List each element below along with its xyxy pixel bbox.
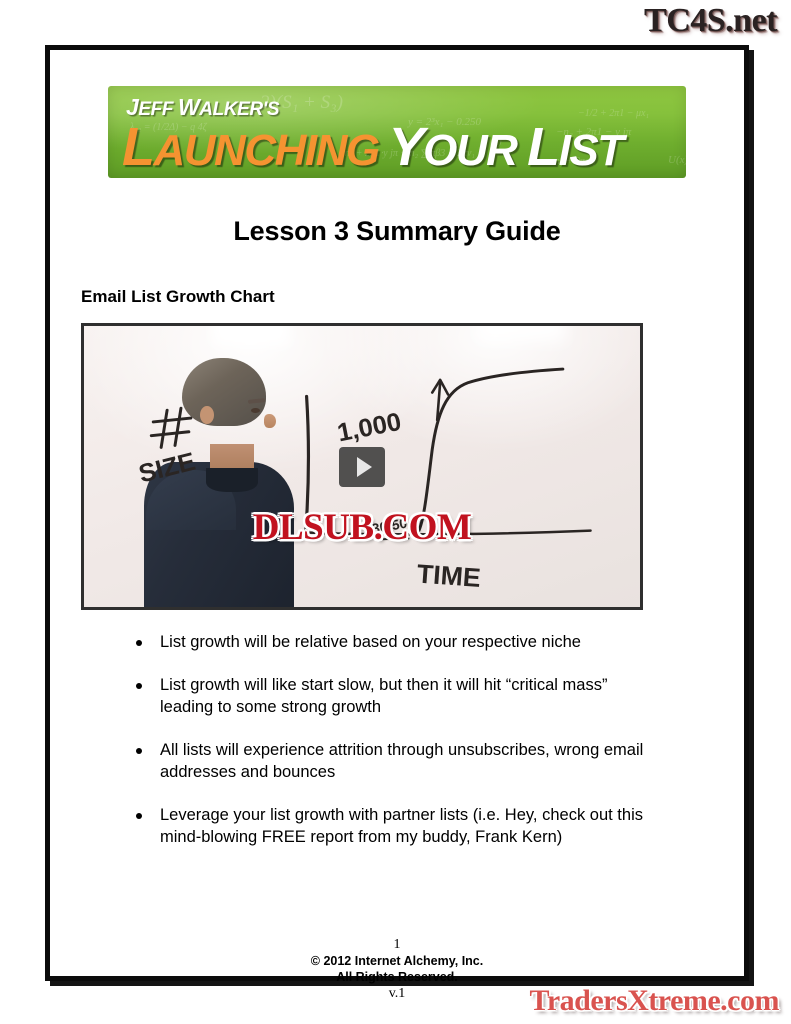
banner-title-launching: LAUNCHING xyxy=(122,126,379,175)
video-watermark: DLSUB.COM xyxy=(253,506,472,549)
course-banner: 2)(S₁ + S₃) y = 2³x₁ − 0.250 −1/2 + 2π1 … xyxy=(108,86,686,178)
banner-your-cap: Y xyxy=(389,117,424,177)
banner-launching-rest: AUNCHING xyxy=(154,126,379,175)
whiteboard-y-axis-label: SIZE xyxy=(136,448,198,489)
copyright-line-1: © 2012 Internet Alchemy, Inc. xyxy=(50,953,744,969)
site-watermark-bottom: TradersXtreme.com xyxy=(530,984,779,1018)
list-item: All lists will experience attrition thro… xyxy=(132,740,652,784)
list-item: List growth will be relative based on yo… xyxy=(132,632,652,654)
banner-equation-7: U(x) dx xyxy=(668,154,686,166)
banner-list-rest: IST xyxy=(559,126,623,175)
video-player[interactable]: SIZE 1,000 30-50 TIME DLSUB.COM xyxy=(81,323,643,610)
document-content: 2)(S₁ + S₃) y = 2³x₁ − 0.250 −1/2 + 2π1 … xyxy=(50,86,744,1012)
whiteboard-x-axis-label: TIME xyxy=(416,559,482,593)
section-title: Email List Growth Chart xyxy=(81,287,716,307)
page-number: 1 xyxy=(50,937,744,953)
play-button[interactable] xyxy=(339,447,385,487)
list-item: List growth will like start slow, but th… xyxy=(132,675,652,719)
whiteboard-value-1000: 1,000 xyxy=(335,408,404,447)
play-triangle-icon xyxy=(357,457,372,477)
site-watermark-top: TC4S.net xyxy=(644,2,777,40)
copyright-line-2: All Rights Reserved. xyxy=(50,969,744,985)
banner-your-rest: OUR xyxy=(423,126,527,175)
page-root: TC4S.net 2)(S₁ + S₃) y = 2³x₁ − 0.250 −1… xyxy=(0,0,791,1024)
document-sheet: 2)(S₁ + S₃) y = 2³x₁ − 0.250 −1/2 + 2π1 … xyxy=(45,45,749,981)
banner-list-cap: L xyxy=(527,117,559,177)
banner-launching-cap: L xyxy=(122,117,154,177)
summary-bullet-list: List growth will be relative based on yo… xyxy=(132,632,652,849)
banner-title-yourlist: YOUR LIST xyxy=(389,126,623,175)
page-title: Lesson 3 Summary Guide xyxy=(78,216,716,247)
list-item: Leverage your list growth with partner l… xyxy=(132,805,652,849)
banner-title: LAUNCHINGYOUR LIST xyxy=(122,116,623,178)
